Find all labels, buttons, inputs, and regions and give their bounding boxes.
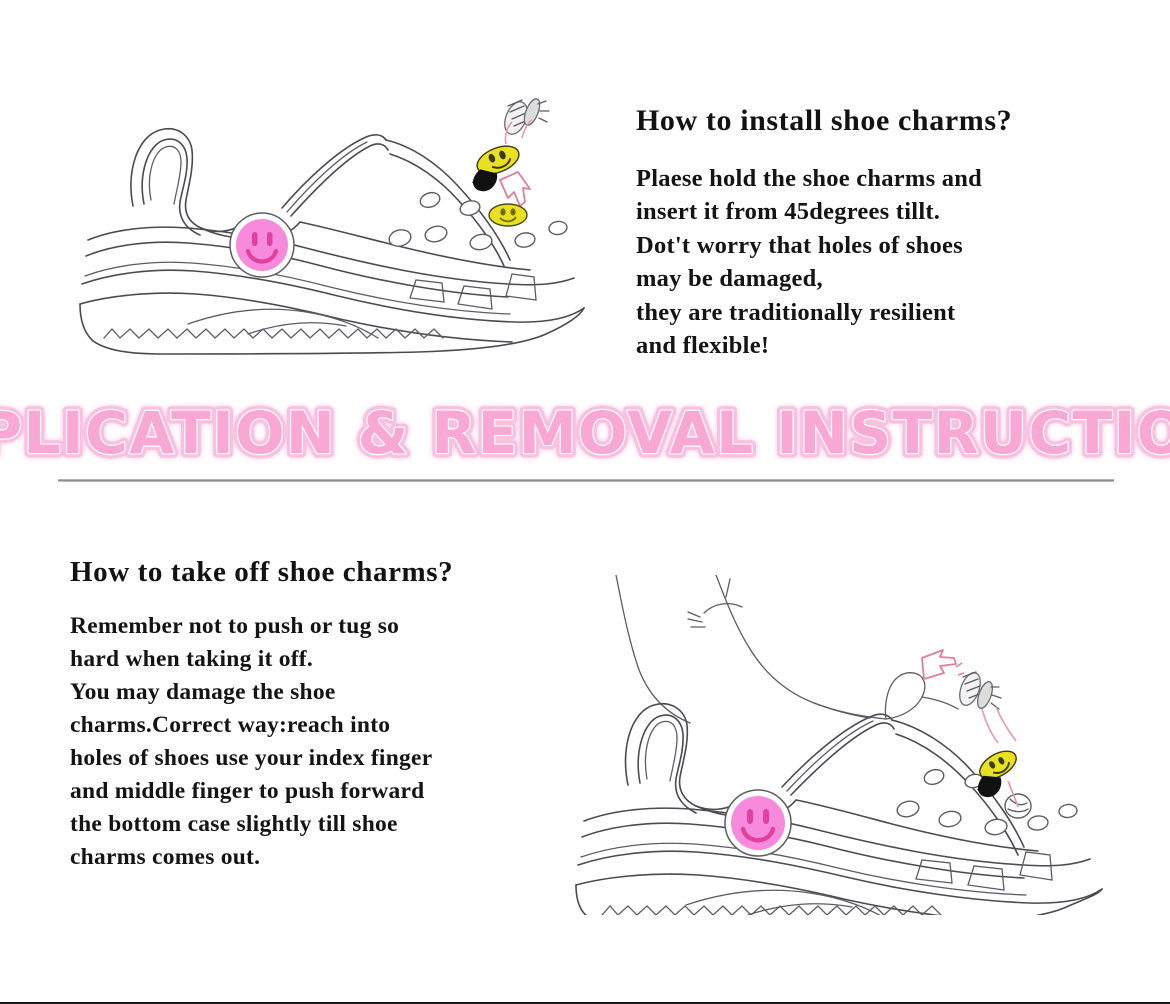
install-body: Plaese hold the shoe charms and insert i… [636, 162, 1106, 363]
clog-shoe-removal-illustration [530, 575, 1130, 915]
removal-line: Remember not to push or tug so [70, 610, 570, 643]
hand-reaching-icon [616, 575, 958, 723]
svg-text:APPLICATION & REMOVAL INSTRUCT: APPLICATION & REMOVAL INSTRUCTIONS [0, 403, 1170, 467]
shoe-vent-holes [387, 190, 567, 251]
removal-line: hard when taking it off. [70, 643, 570, 676]
install-heading: How to install shoe charms? [636, 104, 1106, 138]
clog-shoe-install-illustration [38, 88, 628, 358]
removal-line: and middle finger to push forward [70, 775, 570, 808]
install-line: insert it from 45degrees tillt. [636, 195, 1106, 229]
pink-smiley-charm-bottom [725, 790, 791, 856]
removal-instructions-block: How to take off shoe charms? Remember no… [70, 556, 570, 874]
removal-line: You may damage the shoe [70, 676, 570, 709]
install-instructions-block: How to install shoe charms? Plaese hold … [636, 104, 1106, 363]
charm-back-plug-diagram-bottom [956, 670, 1001, 710]
removal-line: charms.Correct way:reach into [70, 709, 570, 742]
removal-line: charms comes out. [70, 841, 570, 874]
removal-heading: How to take off shoe charms? [70, 556, 570, 588]
pink-smiley-charm-top [230, 213, 294, 277]
removal-arrow-icon [922, 650, 964, 679]
install-line: Dot't worry that holes of shoes [636, 229, 1106, 263]
instruction-sheet: How to install shoe charms? Plaese hold … [0, 0, 1170, 1002]
yellow-smiley-charm-seated [489, 204, 527, 226]
install-line: they are traditionally resilient [636, 296, 1106, 330]
removal-body: Remember not to push or tug so hard when… [70, 610, 570, 874]
section-divider [58, 479, 1114, 482]
install-line: and flexible! [636, 329, 1106, 363]
insertion-arrow-icon [500, 172, 530, 206]
removal-line: the bottom case slightly till shoe [70, 808, 570, 841]
application-removal-banner: APPLICATION & REMOVAL INSTRUCTIONS APPLI… [0, 403, 1170, 471]
removal-line: holes of shoes use your index finger [70, 742, 570, 775]
charm-tilted-removing [966, 745, 1027, 801]
install-line: Plaese hold the shoe charms and [636, 162, 1106, 196]
install-line: may be damaged, [636, 262, 1106, 296]
